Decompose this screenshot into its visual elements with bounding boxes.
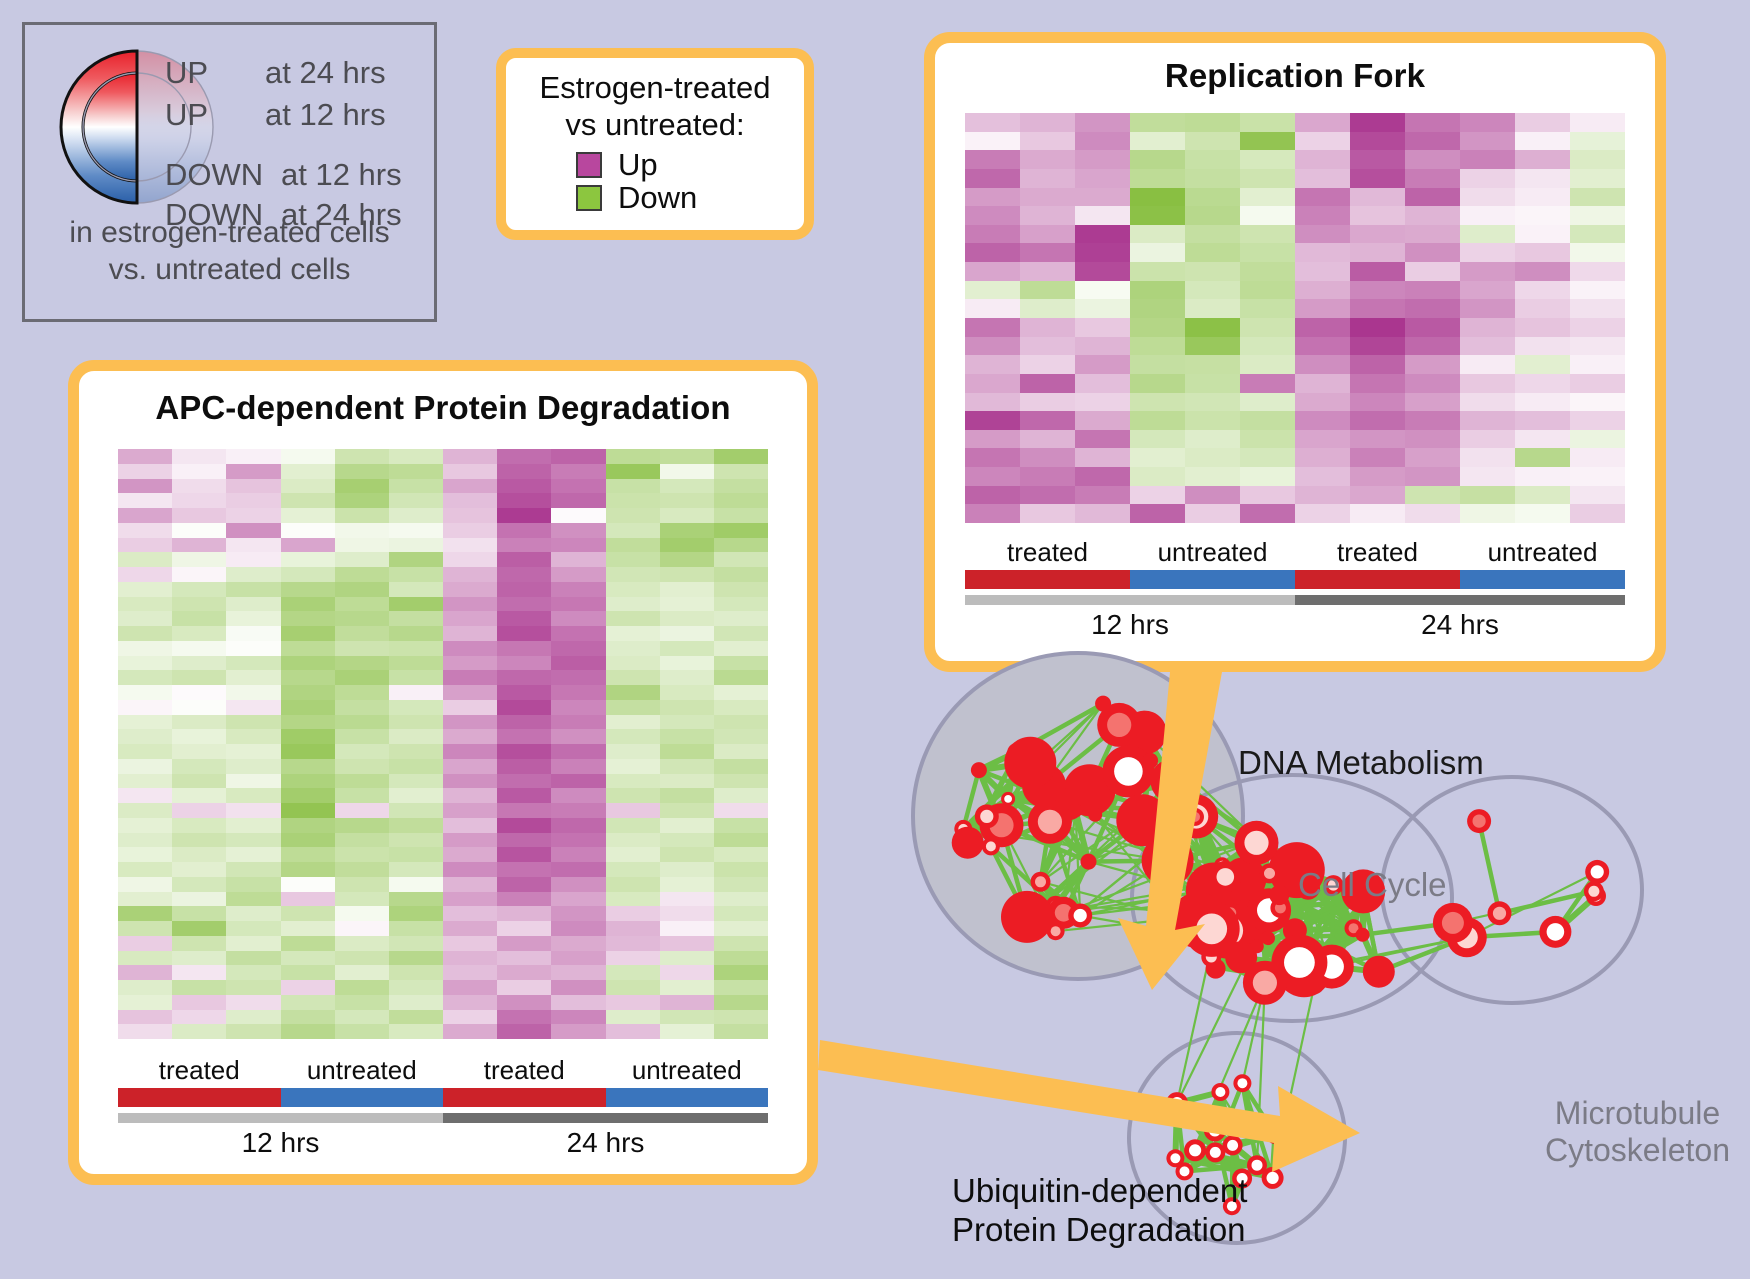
time-label: 24 hrs — [443, 1127, 768, 1159]
node-core — [1284, 947, 1315, 978]
heatmap-cell — [1405, 188, 1460, 207]
heatmap-cell — [1240, 448, 1295, 467]
heatmap-cell — [606, 449, 660, 464]
heatmap-cell — [660, 951, 714, 966]
heatmap-cell — [172, 611, 226, 626]
heatmap-cell — [497, 847, 551, 862]
heatmap-cell — [118, 464, 172, 479]
heatmap-cell — [1130, 281, 1185, 300]
heatmap-cell — [1570, 486, 1625, 505]
heatmap-cell — [118, 656, 172, 671]
condition-label: treated — [443, 1055, 606, 1086]
heatmap-cell — [1460, 243, 1515, 262]
heatmap-cell — [497, 479, 551, 494]
network-node[interactable] — [971, 762, 987, 778]
heatmap-cell — [965, 262, 1020, 281]
network-node[interactable] — [1142, 753, 1158, 769]
heatmap-cell — [1295, 448, 1350, 467]
heatmap-cell — [660, 611, 714, 626]
node-core — [980, 810, 993, 823]
heatmap-cell — [1240, 150, 1295, 169]
network-node[interactable] — [1584, 881, 1604, 901]
network-node[interactable] — [1068, 904, 1092, 928]
heatmap-cell — [1185, 113, 1240, 132]
heatmap-cell — [281, 788, 335, 803]
cluster-label-microtubule-line2: Cytoskeleton — [1545, 1132, 1730, 1169]
replication-fork-heatmap — [965, 113, 1625, 523]
heatmap-cell — [497, 552, 551, 567]
heatmap-cell — [1130, 113, 1185, 132]
heatmap-cell — [1240, 132, 1295, 151]
heatmap-cell — [389, 656, 443, 671]
heatmap-cell — [1350, 318, 1405, 337]
heatmap-cell — [172, 1010, 226, 1025]
network-node[interactable] — [1467, 809, 1491, 833]
heatmap-cell — [606, 656, 660, 671]
heatmap-cell — [1240, 262, 1295, 281]
network-node[interactable] — [1186, 808, 1204, 826]
heatmap-cell — [1130, 504, 1185, 523]
heatmap-cell — [335, 597, 389, 612]
node-ring — [1356, 928, 1370, 942]
heatmap-cell — [1020, 374, 1075, 393]
heatmap-cell — [335, 892, 389, 907]
heatmap-cell — [389, 508, 443, 523]
heatmap-cell — [226, 921, 280, 936]
network-node[interactable] — [1488, 901, 1512, 925]
heatmap-cell — [714, 818, 768, 833]
node-core — [1547, 923, 1565, 941]
network-node[interactable] — [1088, 808, 1102, 822]
heatmap-cell — [551, 611, 605, 626]
heatmap-cell — [226, 729, 280, 744]
heatmap-cell — [443, 523, 497, 538]
heatmap-cell — [118, 818, 172, 833]
color-key-panel: UP at 24 hrs UP at 12 hrs DOWN at 12 hrs… — [22, 22, 437, 322]
network-node[interactable] — [975, 804, 999, 828]
heatmap-cell — [1570, 243, 1625, 262]
heatmap-cell — [1405, 281, 1460, 300]
heatmap-cell — [1295, 243, 1350, 262]
heatmap-cell — [497, 449, 551, 464]
heatmap-cell — [281, 803, 335, 818]
network-node[interactable] — [1356, 928, 1370, 942]
heatmap-cell — [335, 611, 389, 626]
condition-bar-segment — [606, 1088, 769, 1107]
heatmap-cell — [660, 788, 714, 803]
heatmap-cell — [660, 980, 714, 995]
network-node[interactable] — [1081, 854, 1097, 870]
network-node[interactable] — [1262, 1167, 1284, 1189]
heatmap-cell — [118, 833, 172, 848]
heatmap-cell — [443, 921, 497, 936]
heatmap-cell — [226, 862, 280, 877]
heatmap-cell — [1350, 504, 1405, 523]
heatmap-cell — [606, 1024, 660, 1039]
heatmap-cell — [335, 479, 389, 494]
heatmap-cell — [226, 700, 280, 715]
heatmap-cell — [660, 847, 714, 862]
network-node[interactable] — [1223, 1135, 1243, 1155]
heatmap-cell — [443, 479, 497, 494]
heatmap-cell — [1515, 430, 1570, 449]
heatmap-cell — [1405, 243, 1460, 262]
heatmap-cell — [281, 877, 335, 892]
heatmap-cell — [1460, 318, 1515, 337]
heatmap-cell — [714, 538, 768, 553]
heatmap-cell — [1130, 448, 1185, 467]
heatmap-cell — [1240, 486, 1295, 505]
network-node[interactable] — [1305, 974, 1325, 994]
heatmap-cell — [660, 715, 714, 730]
network-node[interactable] — [1363, 956, 1395, 988]
network-node[interactable] — [1235, 821, 1279, 865]
network-node[interactable] — [982, 837, 1000, 855]
heatmap-cell — [172, 685, 226, 700]
node-ring — [1269, 885, 1289, 905]
network-node[interactable] — [1004, 737, 1056, 789]
network-node[interactable] — [1095, 696, 1111, 712]
heatmap-cell — [172, 744, 226, 759]
heatmap-cell — [714, 1010, 768, 1025]
heatmap-cell — [172, 552, 226, 567]
heatmap-cell — [714, 552, 768, 567]
network-node[interactable] — [1001, 792, 1015, 806]
heatmap-cell — [660, 656, 714, 671]
heatmap-cell — [497, 611, 551, 626]
heatmap-cell — [1130, 374, 1185, 393]
heatmap-cell — [660, 641, 714, 656]
heatmap-cell — [389, 936, 443, 951]
heatmap-cell — [551, 995, 605, 1010]
heatmap-cell — [226, 965, 280, 980]
network-node[interactable] — [1028, 800, 1072, 844]
heatmap-cell — [281, 567, 335, 582]
heatmap-cell — [335, 980, 389, 995]
heatmap-cell — [226, 685, 280, 700]
heatmap-cell — [714, 936, 768, 951]
node-core — [1038, 810, 1062, 834]
heatmap-cell — [497, 965, 551, 980]
heatmap-cell — [965, 430, 1020, 449]
heatmap-cell — [172, 921, 226, 936]
heatmap-cell — [1405, 467, 1460, 486]
heatmap-cell — [606, 936, 660, 951]
heatmap-cell — [226, 744, 280, 759]
node-ring — [1116, 794, 1168, 846]
heatmap-cell — [1185, 225, 1240, 244]
heatmap-cell — [497, 921, 551, 936]
heatmap-cell — [1460, 393, 1515, 412]
heatmap-cell — [443, 774, 497, 789]
node-core — [1267, 1172, 1279, 1184]
heatmap-cell — [1405, 206, 1460, 225]
heatmap-cell — [443, 729, 497, 744]
network-node[interactable] — [1260, 863, 1280, 883]
heatmap-cell — [497, 670, 551, 685]
node-core — [1227, 1140, 1238, 1151]
heatmap-cell — [1405, 318, 1460, 337]
legend-item-up: Up — [576, 149, 804, 180]
heatmap-cell — [335, 833, 389, 848]
heatmap-cell — [1460, 299, 1515, 318]
heatmap-cell — [172, 493, 226, 508]
legend-title: Estrogen-treated vs untreated: — [506, 70, 804, 143]
heatmap-cell — [1240, 374, 1295, 393]
time-label: 12 hrs — [118, 1127, 443, 1159]
heatmap-cell — [443, 508, 497, 523]
heatmap-cell — [1570, 374, 1625, 393]
replication-fork-title: Replication Fork — [935, 57, 1655, 95]
heatmap-cell — [714, 729, 768, 744]
heatmap-cell — [172, 877, 226, 892]
heatmap-cell — [965, 411, 1020, 430]
heatmap-cell — [714, 906, 768, 921]
heatmap-cell — [714, 449, 768, 464]
heatmap-cell — [1515, 206, 1570, 225]
heatmap-cell — [551, 464, 605, 479]
heatmap-cell — [389, 538, 443, 553]
heatmap-cell — [1570, 430, 1625, 449]
heatmap-cell — [443, 759, 497, 774]
heatmap-cell — [1240, 337, 1295, 356]
heatmap-cell — [606, 523, 660, 538]
heatmap-cell — [1130, 337, 1185, 356]
heatmap-cell — [714, 479, 768, 494]
heatmap-cell — [389, 729, 443, 744]
heatmap-cell — [1020, 486, 1075, 505]
heatmap-cell — [389, 685, 443, 700]
heatmap-cell — [226, 493, 280, 508]
network-node[interactable] — [1209, 861, 1241, 893]
network-node[interactable] — [1233, 1074, 1251, 1092]
heatmap-cell — [443, 833, 497, 848]
heatmap-cell — [1295, 374, 1350, 393]
heatmap-cell — [1515, 262, 1570, 281]
heatmap-cell — [226, 611, 280, 626]
heatmap-cell — [1075, 374, 1130, 393]
heatmap-cell — [335, 951, 389, 966]
heatmap-cell — [497, 833, 551, 848]
node-core — [1004, 795, 1012, 803]
node-core — [1196, 914, 1227, 945]
network-node[interactable] — [1102, 745, 1154, 797]
network-node[interactable] — [1204, 1119, 1226, 1141]
heatmap-cell — [1350, 467, 1405, 486]
heatmap-cell — [335, 1010, 389, 1025]
heatmap-cell — [1130, 262, 1185, 281]
heatmap-cell — [172, 892, 226, 907]
heatmap-cell — [443, 980, 497, 995]
network-node[interactable] — [1585, 860, 1609, 884]
heatmap-cell — [389, 818, 443, 833]
node-core — [1588, 886, 1599, 897]
heatmap-cell — [118, 479, 172, 494]
network-node[interactable] — [1184, 901, 1240, 957]
heatmap-cell — [1515, 355, 1570, 374]
heatmap-cell — [660, 670, 714, 685]
heatmap-cell — [1405, 225, 1460, 244]
heatmap-cell — [281, 818, 335, 833]
heatmap-cell — [118, 641, 172, 656]
heatmap-cell — [1570, 169, 1625, 188]
network-node[interactable] — [1184, 1139, 1206, 1161]
condition-bar-segment — [118, 1088, 281, 1107]
heatmap-cell — [172, 700, 226, 715]
heatmap-cell — [1350, 132, 1405, 151]
heatmap-cell — [1075, 169, 1130, 188]
heatmap-cell — [551, 980, 605, 995]
heatmap-cell — [660, 508, 714, 523]
heatmap-cell — [389, 479, 443, 494]
heatmap-cell — [1075, 299, 1130, 318]
heatmap-cell — [443, 700, 497, 715]
heatmap-cell — [226, 906, 280, 921]
network-node[interactable] — [1205, 1142, 1225, 1162]
heatmap-cell — [1570, 393, 1625, 412]
heatmap-cell — [281, 508, 335, 523]
heatmap-cell — [226, 1024, 280, 1039]
heatmap-cell — [172, 833, 226, 848]
heatmap-cell — [660, 774, 714, 789]
heatmap-cell — [1185, 504, 1240, 523]
heatmap-cell — [172, 538, 226, 553]
heatmap-cell — [1350, 113, 1405, 132]
network-node[interactable] — [1266, 1126, 1284, 1144]
heatmap-cell — [389, 641, 443, 656]
node-core — [1210, 1147, 1221, 1158]
network-node[interactable] — [952, 827, 984, 859]
heatmap-cell — [606, 995, 660, 1010]
heatmap-cell — [1185, 150, 1240, 169]
network-node[interactable] — [1001, 891, 1053, 943]
heatmap-cell — [1075, 448, 1130, 467]
node-ring — [1088, 808, 1102, 822]
network-node[interactable] — [1539, 916, 1571, 948]
heatmap-cell — [281, 833, 335, 848]
heatmap-cell — [281, 965, 335, 980]
heatmap-cell — [281, 951, 335, 966]
heatmap-cell — [497, 493, 551, 508]
heatmap-cell — [1570, 150, 1625, 169]
heatmap-cell — [714, 877, 768, 892]
heatmap-cell — [1350, 411, 1405, 430]
heatmap-cell — [714, 803, 768, 818]
node-core — [1107, 713, 1131, 737]
heatmap-cell — [606, 744, 660, 759]
heatmap-cell — [1570, 262, 1625, 281]
heatmap-cell — [1130, 355, 1185, 374]
apc-time-bar — [118, 1113, 768, 1123]
heatmap-cell — [714, 965, 768, 980]
network-node[interactable] — [1211, 1083, 1229, 1101]
condition-bar-segment — [281, 1088, 444, 1107]
heatmap-cell — [335, 670, 389, 685]
heatmap-cell — [118, 995, 172, 1010]
cluster-label-ubiquitin: Ubiquitin-dependent Protein Degradation — [952, 1172, 1247, 1250]
network-node[interactable] — [1116, 794, 1168, 846]
heatmap-cell — [714, 995, 768, 1010]
heatmap-cell — [551, 1010, 605, 1025]
heatmap-cell — [497, 464, 551, 479]
heatmap-cell — [443, 567, 497, 582]
heatmap-cell — [1020, 243, 1075, 262]
heatmap-cell — [1130, 318, 1185, 337]
heatmap-cell — [1460, 262, 1515, 281]
heatmap-cell — [1295, 113, 1350, 132]
heatmap-cell — [1020, 393, 1075, 412]
heatmap-cell — [172, 906, 226, 921]
heatmap-cell — [389, 862, 443, 877]
heatmap-cell — [1185, 262, 1240, 281]
heatmap-cell — [965, 393, 1020, 412]
network-node[interactable] — [1261, 931, 1275, 945]
heatmap-cell — [1185, 486, 1240, 505]
heatmap-cell — [226, 892, 280, 907]
heatmap-cell — [226, 582, 280, 597]
heatmap-cell — [714, 493, 768, 508]
heatmap-cell — [1460, 150, 1515, 169]
network-node[interactable] — [1166, 1092, 1188, 1114]
heatmap-cell — [1130, 430, 1185, 449]
heatmap-cell — [1570, 281, 1625, 300]
network-node[interactable] — [1069, 804, 1083, 818]
heatmap-cell — [1185, 430, 1240, 449]
heatmap-cell — [281, 715, 335, 730]
heatmap-cell — [1460, 206, 1515, 225]
heatmap-cell — [118, 670, 172, 685]
heatmap-cell — [551, 656, 605, 671]
network-node[interactable] — [1031, 872, 1051, 892]
heatmap-cell — [1240, 225, 1295, 244]
heatmap-cell — [497, 862, 551, 877]
heatmap-cell — [1295, 486, 1350, 505]
heatmap-cell — [965, 150, 1020, 169]
heatmap-cell — [551, 670, 605, 685]
heatmap-cell — [1130, 132, 1185, 151]
heatmap-cell — [497, 1010, 551, 1025]
heatmap-cell — [1130, 243, 1185, 262]
heatmap-cell — [1570, 132, 1625, 151]
heatmap-cell — [1295, 188, 1350, 207]
heatmap-cell — [1185, 448, 1240, 467]
heatmap-cell — [443, 936, 497, 951]
heatmap-cell — [1460, 448, 1515, 467]
heatmap-cell — [172, 788, 226, 803]
heatmap-cell — [172, 729, 226, 744]
heatmap-cell — [497, 582, 551, 597]
node-core — [1209, 1124, 1221, 1136]
network-node[interactable] — [1047, 922, 1065, 940]
network-node[interactable] — [1433, 903, 1473, 943]
heatmap-cell — [335, 656, 389, 671]
heatmap-cell — [1405, 262, 1460, 281]
heatmap-cell — [551, 597, 605, 612]
heatmap-cell — [118, 877, 172, 892]
heatmap-cell — [1350, 355, 1405, 374]
network-node[interactable] — [1269, 885, 1289, 905]
node-core — [1493, 907, 1506, 920]
heatmap-cell — [443, 862, 497, 877]
node-ring — [1363, 956, 1395, 988]
heatmap-cell — [281, 744, 335, 759]
condition-label: treated — [118, 1055, 281, 1086]
heatmap-cell — [606, 892, 660, 907]
node-ring — [952, 827, 984, 859]
heatmap-cell — [281, 1010, 335, 1025]
heatmap-cell — [1240, 355, 1295, 374]
network-node[interactable] — [1150, 759, 1194, 803]
